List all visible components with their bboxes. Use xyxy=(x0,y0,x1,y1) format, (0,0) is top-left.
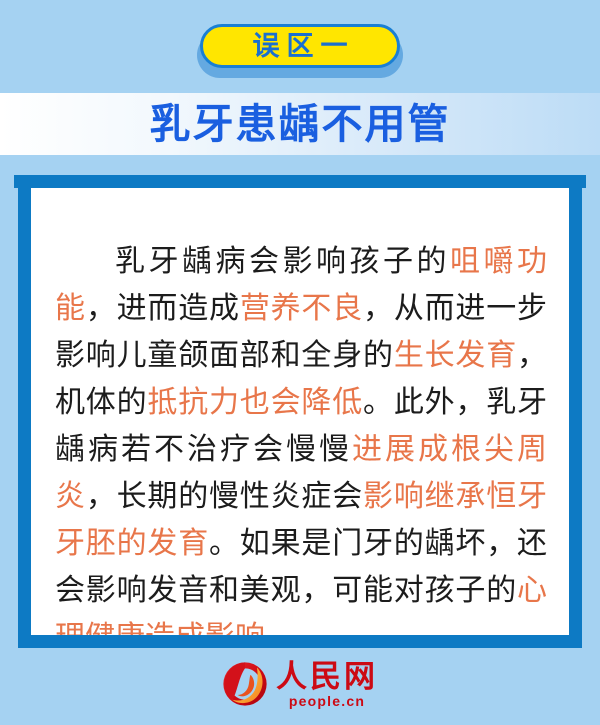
frame-border-left xyxy=(18,184,31,648)
content-frame: 乳牙龋病会影响孩子的咀嚼功能，进而造成营养不良，从而进一步影响儿童颌面部和全身的… xyxy=(18,175,582,648)
frame-border-top xyxy=(14,175,586,188)
content-card: 乳牙龋病会影响孩子的咀嚼功能，进而造成营养不良，从而进一步影响儿童颌面部和全身的… xyxy=(31,188,569,635)
body-text-run: 乳牙龋病会影响孩子的 xyxy=(115,245,450,278)
highlighted-phrase: 营养不良 xyxy=(240,292,363,325)
frame-border-right xyxy=(569,184,582,648)
misconception-badge: 误区一 xyxy=(200,24,400,68)
logo-name-cn: 人民网 xyxy=(276,661,378,693)
poster-canvas: 误区一 乳牙患龋不用管 乳牙龋病会影响孩子的咀嚼功能，进而造成营养不良，从而进一… xyxy=(0,0,600,725)
logo-wordmark: 人民网 people.cn xyxy=(276,661,378,709)
body-text-run: ，长期的慢性炎症会 xyxy=(86,480,363,513)
page-title: 乳牙患龋不用管 xyxy=(0,95,600,153)
body-text-run: 。 xyxy=(265,621,295,635)
body-text-run: ，进而造成 xyxy=(86,292,240,325)
frame-border-bottom xyxy=(18,635,582,648)
people-cn-globe-icon xyxy=(222,661,268,707)
highlighted-phrase: 抵抗力也会降低 xyxy=(147,386,363,419)
highlighted-phrase: 生长发育 xyxy=(394,339,517,372)
section-badge: 误区一 xyxy=(0,24,600,68)
brand-logo: 人民网 people.cn xyxy=(0,659,600,709)
logo-name-en: people.cn xyxy=(289,694,365,709)
body-paragraph: 乳牙龋病会影响孩子的咀嚼功能，进而造成营养不良，从而进一步影响儿童颌面部和全身的… xyxy=(55,238,547,635)
badge-label: 误区一 xyxy=(246,33,355,60)
